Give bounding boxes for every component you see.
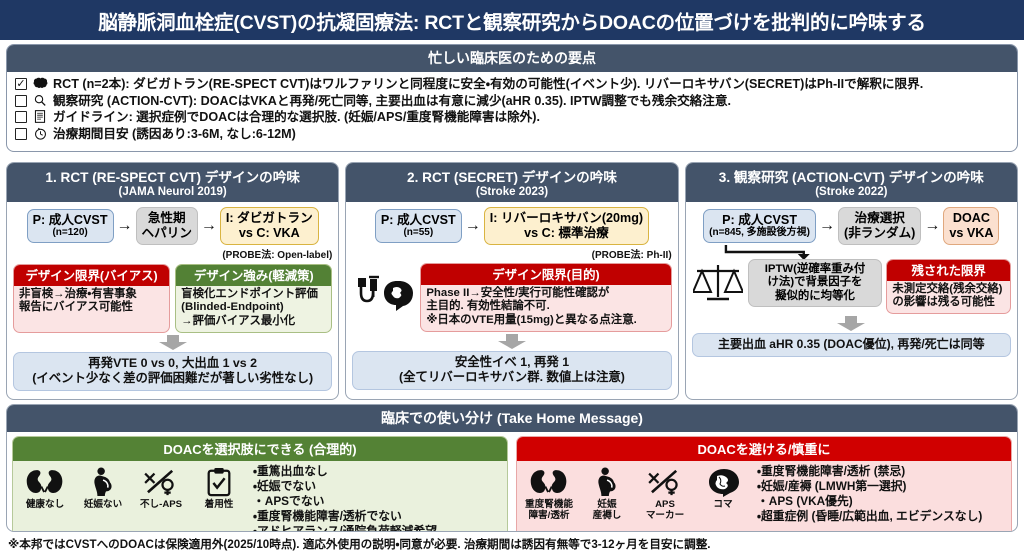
icon-caption: 重度腎機能 障害/透析 (521, 500, 577, 521)
icon-caption: 妊娠 産褥し (579, 500, 635, 521)
design-panels: デザイン限界(バイアス) 非盲検→治療・有害事象 報告にバイアス可能性 デザイン… (13, 264, 332, 333)
flow-box-population: P: 成人CVST (n=55) (375, 209, 462, 244)
study-result: 安全性イベ 1, 再発 1 (全てリバーロキサバン群. 数値上は注意) (352, 351, 671, 390)
flow-box-population: P: 成人CVST (n=120) (27, 209, 114, 244)
study-columns: 1. RCT (RE-SPECT CVT) デザインの吟味 (JAMA Neur… (0, 162, 1024, 400)
flow-box-label: P: 成人CVST (709, 213, 810, 228)
column-header: 1. RCT (RE-SPECT CVT) デザインの吟味 (JAMA Neur… (7, 163, 338, 202)
arrow-right-icon: → (201, 218, 217, 234)
flow-note: (PROBE法: Open-label) (13, 246, 332, 261)
pregnancy-icon: 妊娠 産褥し (579, 465, 635, 521)
icon-caption: APS マーカー (637, 500, 693, 521)
flow-box-label: I: リバーロキサバン(20mg) (490, 211, 643, 226)
magnifier-icon (32, 94, 48, 107)
pregnancy-icon: 妊娠ない (75, 465, 131, 511)
icon-caption: 不し-APS (133, 500, 189, 511)
vial-brain-icon (352, 275, 416, 320)
flow-box-label: I: ダビガトラン (226, 211, 313, 226)
take-home-heading: 臨床での使い分け (Take Home Message) (7, 405, 1017, 432)
icon-caption: 着用性 (191, 500, 247, 511)
residual-limitation-panel: 残された限界 未測定交絡(残余交絡) の影響は残る可能性 (886, 259, 1011, 314)
column-source: (Stroke 2022) (688, 186, 1015, 198)
panel-heading: デザイン強み(軽減策) (176, 265, 331, 286)
summary-heading: 忙しい臨床医のための要点 (7, 45, 1017, 72)
list-item: ・重篤出血なし (253, 464, 503, 479)
summary-row[interactable]: ガイドライン: 選択症例でDOACは合理的な選択肢. (妊娠/APS/重度腎機能… (15, 109, 1011, 126)
aps-marker-glyph (637, 465, 693, 499)
column-respect-cvt: 1. RCT (RE-SPECT CVT) デザインの吟味 (JAMA Neur… (6, 162, 339, 400)
study-result: 再発VTE 0 vs 0, 大出血 1 vs 2 (イベント少なく差の評価困難だ… (13, 352, 332, 391)
flow-box-population: P: 成人CVST (n=845, 多施設後方視) (703, 209, 816, 244)
clock-icon (32, 127, 48, 140)
column-source: (JAMA Neurol 2019) (9, 186, 336, 198)
bullet-list: ・重度腎機能障害/透析 (禁忌) ・妊娠/産褥 (LMWH第一選択) ・APS … (755, 464, 1007, 524)
design-limitation-panel: デザイン限界(バイアス) 非盲検→治療・有害事象 報告にバイアス可能性 (13, 264, 170, 333)
list-item: ・重度腎機能障害/透析 (禁忌) (757, 464, 1007, 479)
summary-row[interactable]: 観察研究 (ACTION-CVT): DOACはVKAと再発/死亡同等, 主要出… (15, 93, 1011, 110)
flow-box-sub: (非ランダム) (844, 226, 915, 241)
study-flow: P: 成人CVST (n=120) → 急性期 ヘパリン → I: ダビガトラン… (13, 207, 332, 245)
checkbox-checked[interactable]: ✓ (15, 78, 27, 90)
summary-row-text: RCT (n=2本): ダビガトラン(RE-SPECT CVT)はワルファリンと… (53, 76, 923, 93)
column-body: P: 成人CVST (n=120) → 急性期 ヘパリン → I: ダビガトラン… (7, 202, 338, 399)
column-header: 3. 観察研究 (ACTION-CVT) デザインの吟味 (Stroke 202… (686, 163, 1017, 202)
pregnancy-glyph (75, 465, 131, 499)
clipboard-check-icon: 着用性 (191, 465, 247, 511)
checkbox-unchecked[interactable] (15, 111, 27, 123)
design-limitation-panel: デザイン限界(目的) Phase II→安全性/実行可能性確認が 主目的. 有効… (420, 263, 671, 332)
doac-avoid-panel: DOACを避ける/慎重に 重度腎機能 障害/透析 (516, 436, 1012, 532)
aps-marker-glyph (133, 465, 189, 499)
coma-brain-icon: コマ (695, 465, 751, 521)
document-icon (32, 110, 48, 123)
arrow-right-icon: → (117, 218, 133, 234)
flow-box-sub: ヘパリン (142, 226, 192, 241)
flow-box-sub: (n=55) (381, 227, 456, 239)
infographic-page: 脳静脈洞血栓症(CVST)の抗凝固療法: RCTと観察研究からDOACの位置づけ… (0, 0, 1024, 558)
panel-heading: デザイン限界(目的) (421, 264, 670, 285)
clipboard-check-glyph (191, 465, 247, 499)
footnote: ※本邦ではCVSTへのDOACは保険適用外(2025/10時点). 適応外使用の… (0, 536, 1024, 552)
panel-body: 盲検化エンドポイント評価 (Blinded-Endpoint) →評価バイアス最… (176, 286, 331, 332)
list-item: ・APS (VKA優先) (757, 494, 1007, 509)
study-result: 主要出血 aHR 0.35 (DOAC優位), 再発/死亡は同等 (692, 333, 1011, 357)
flow-box-label: 治療選択 (844, 211, 915, 226)
summary-row-text: ガイドライン: 選択症例でDOACは合理的な選択肢. (妊娠/APS/重度腎機能… (53, 109, 540, 126)
flow-box-intervention: I: ダビガトラン vs C: VKA (220, 207, 319, 245)
panel-body: 未測定交絡(残余交絡) の影響は残る可能性 (887, 281, 1010, 313)
summary-card: 忙しい臨床医のための要点 ✓ RCT (n=2本): ダビガトラン(RE-SPE… (6, 44, 1018, 152)
aps-marker-icon: APS マーカー (637, 465, 693, 521)
flow-box-treatment-choice: 治療選択 (非ランダム) (838, 207, 921, 245)
study-flow: P: 成人CVST (n=845, 多施設後方視) → 治療選択 (非ランダム)… (692, 207, 1011, 245)
flow-box-label: 急性期 (142, 211, 192, 226)
adjustment-panels: IPTW(逆確率重み付 け法)で背景因子を 擬似的に均等化 残された限界 未測定… (692, 259, 1011, 314)
column-body: P: 成人CVST (n=55) → I: リバーロキサバン(20mg) vs … (346, 202, 677, 399)
list-item: ・妊娠でない (253, 479, 503, 494)
checkbox-unchecked[interactable] (15, 95, 27, 107)
checkbox-unchecked[interactable] (15, 128, 27, 140)
column-action-cvt: 3. 観察研究 (ACTION-CVT) デザインの吟味 (Stroke 202… (685, 162, 1018, 400)
flow-connector (692, 245, 1011, 259)
panel-heading: 残された限界 (887, 260, 1010, 281)
column-title: 2. RCT (SECRET) デザインの吟味 (348, 166, 675, 186)
panel-heading: DOACを選択肢にできる (合理的) (13, 437, 507, 461)
doac-acceptable-panel: DOACを選択肢にできる (合理的) 健康なし (12, 436, 508, 532)
take-home-body: DOACを選択肢にできる (合理的) 健康なし (7, 432, 1017, 532)
design-panels: デザイン限界(目的) Phase II→安全性/実行可能性確認が 主目的. 有効… (352, 263, 671, 332)
flow-box-acute-heparin: 急性期 ヘパリン (136, 207, 198, 245)
iptw-box: IPTW(逆確率重み付 け法)で背景因子を 擬似的に均等化 (748, 259, 883, 307)
flow-box-sub: vs C: 標準治療 (490, 226, 643, 241)
panel-body: 重度腎機能 障害/透析 妊娠 産褥し (517, 461, 1011, 526)
flow-box-sub: (n=120) (33, 227, 108, 239)
flow-box-sub: vs C: VKA (226, 226, 313, 241)
flow-box-label: P: 成人CVST (381, 213, 456, 228)
icon-row: 健康なし 妊娠ない (17, 464, 247, 511)
flow-box-comparison: DOAC vs VKA (943, 207, 999, 245)
arrow-right-icon: → (924, 218, 940, 234)
flow-box-sub: (n=845, 多施設後方視) (709, 227, 810, 239)
panel-body: 非盲検→治療・有害事象 報告にバイアス可能性 (14, 286, 169, 318)
arrow-down-icon (352, 334, 671, 349)
list-item: ・アドヒアランス/通院負荷軽減希望 (253, 524, 503, 532)
icon-caption: 健康なし (17, 500, 73, 511)
icon-caption: コマ (695, 500, 751, 511)
flow-box-label: P: 成人CVST (33, 213, 108, 228)
flow-note: (PROBE法: Ph-II) (352, 246, 671, 261)
take-home-card: 臨床での使い分け (Take Home Message) DOACを選択肢にでき… (6, 404, 1018, 532)
pregnancy-glyph (579, 465, 635, 499)
column-title: 3. 観察研究 (ACTION-CVT) デザインの吟味 (688, 166, 1015, 186)
kidney-icon: 重度腎機能 障害/透析 (521, 465, 577, 521)
icon-caption: 妊娠ない (75, 500, 131, 511)
panel-heading: デザイン限界(バイアス) (14, 265, 169, 286)
flow-box-sub: vs VKA (949, 226, 993, 241)
flow-box-label: DOAC (949, 211, 993, 226)
kidney-glyph (521, 465, 577, 499)
panel-heading: DOACを避ける/慎重に (517, 437, 1011, 461)
list-item: ・重度腎機能障害/透析でない (253, 509, 503, 524)
flow-box-intervention: I: リバーロキサバン(20mg) vs C: 標準治療 (484, 207, 649, 245)
kidney-glyph (17, 465, 73, 499)
panel-body: Phase II→安全性/実行可能性確認が 主目的. 有効性結論不可. ※日本の… (421, 285, 670, 331)
summary-row[interactable]: ✓ RCT (n=2本): ダビガトラン(RE-SPECT CVT)はワルファリ… (15, 76, 1011, 93)
aps-marker-icon: 不し-APS (133, 465, 189, 511)
page-title: 脳静脈洞血栓症(CVST)の抗凝固療法: RCTと観察研究からDOACの位置づけ… (0, 0, 1024, 40)
column-header: 2. RCT (SECRET) デザインの吟味 (Stroke 2023) (346, 163, 677, 202)
bullet-list: ・重篤出血なし ・妊娠でない ・APSでない ・重度腎機能障害/透析でない ・ア… (251, 464, 503, 532)
kidney-icon: 健康なし (17, 465, 73, 511)
column-source: (Stroke 2023) (348, 186, 675, 198)
coma-brain-glyph (695, 465, 751, 499)
arrow-down-icon (13, 335, 332, 350)
design-strength-panel: デザイン強み(軽減策) 盲検化エンドポイント評価 (Blinded-Endpoi… (175, 264, 332, 333)
brain-icon (32, 77, 48, 90)
icon-row: 重度腎機能 障害/透析 妊娠 産褥し (521, 464, 751, 521)
list-item: ・妊娠/産褥 (LMWH第一選択) (757, 479, 1007, 494)
summary-row-text: 観察研究 (ACTION-CVT): DOACはVKAと再発/死亡同等, 主要出… (53, 93, 731, 110)
balance-scale-icon (692, 259, 744, 308)
arrow-down-icon (692, 316, 1011, 331)
summary-row[interactable]: 治療期間目安 (誘因あり:3-6M, なし:6-12M) (15, 126, 1011, 143)
list-item: ・APSでない (253, 494, 503, 509)
summary-row-text: 治療期間目安 (誘因あり:3-6M, なし:6-12M) (53, 126, 296, 143)
arrow-right-icon: → (819, 218, 835, 234)
list-item: ・超重症例 (昏睡/広範出血, エビデンスなし) (757, 509, 1007, 524)
study-flow: P: 成人CVST (n=55) → I: リバーロキサバン(20mg) vs … (352, 207, 671, 245)
column-secret: 2. RCT (SECRET) デザインの吟味 (Stroke 2023) P:… (345, 162, 678, 400)
column-title: 1. RCT (RE-SPECT CVT) デザインの吟味 (9, 166, 336, 186)
arrow-right-icon: → (465, 218, 481, 234)
column-body: P: 成人CVST (n=845, 多施設後方視) → 治療選択 (非ランダム)… (686, 202, 1017, 399)
panel-body: 健康なし 妊娠ない (13, 461, 507, 532)
summary-list: ✓ RCT (n=2本): ダビガトラン(RE-SPECT CVT)はワルファリ… (7, 72, 1017, 144)
